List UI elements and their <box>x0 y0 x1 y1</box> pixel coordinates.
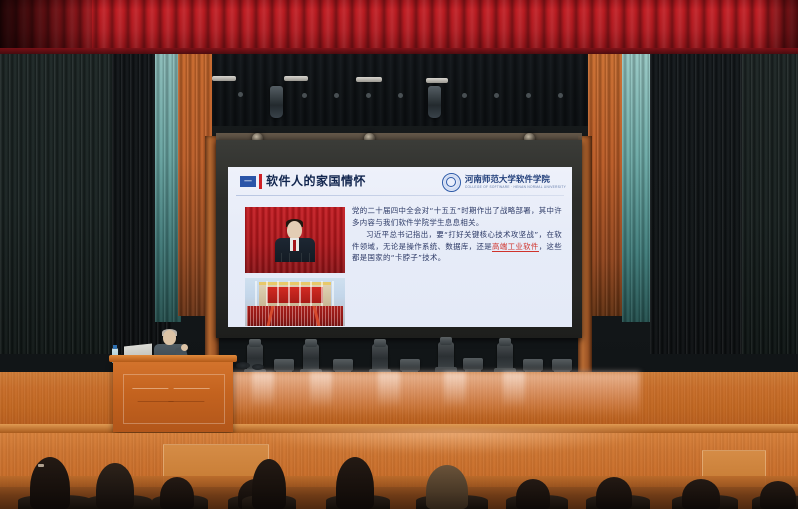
red-valance-curtain <box>0 0 798 54</box>
audience-head <box>596 477 632 509</box>
right-orange-drape <box>588 54 624 316</box>
par-can-light <box>400 359 420 371</box>
audience-head <box>160 477 194 509</box>
ceiling-light-dot <box>558 93 563 98</box>
ceiling-light-dot <box>526 93 531 98</box>
logo-name-cn: 河南师范大学软件学院 <box>465 175 566 185</box>
light-strip-bar <box>284 76 308 81</box>
slide-photo-leader-speech <box>245 207 345 273</box>
ceiling-light-dot <box>462 93 467 98</box>
slide-photo-great-hall <box>245 278 345 326</box>
ceiling-light-dot <box>302 93 307 98</box>
ceiling-light-dot <box>366 93 371 98</box>
slide-paragraph-2: 习近平总书记指出，要“打好关键核心技术攻坚战”，在软件领域，无论是操作系统、数据… <box>352 229 562 264</box>
audience-head <box>426 465 468 509</box>
par-can-light <box>274 359 294 371</box>
moving-head-light <box>497 343 513 369</box>
moving-head-light <box>438 342 454 368</box>
wooden-podium <box>113 360 233 432</box>
slide-body-text: 党的二十届四中全会对“十五五”时期作出了战略部署，其中许多内容与我们软件学院学生… <box>352 205 562 264</box>
right-black-drape <box>650 54 746 354</box>
hair-clip <box>38 464 44 467</box>
title-red-bar <box>259 174 262 189</box>
light-strip-bar <box>356 77 382 82</box>
ceiling-light-dot <box>238 92 243 97</box>
slide-title: 软件人的家国情怀 <box>266 174 366 189</box>
university-seal-icon <box>442 173 461 192</box>
left-black-drape <box>0 54 118 354</box>
valance-right-shadow <box>758 0 798 54</box>
par-can-light <box>463 358 483 370</box>
slide-highlight-term: 高端工业软件 <box>492 242 539 252</box>
slide-paragraph-1: 党的二十届四中全会对“十五五”时期作出了战略部署，其中许多内容与我们软件学院学生… <box>352 206 562 227</box>
valance-left-shadow <box>0 0 92 54</box>
moving-head-light <box>372 344 388 370</box>
hanging-stage-light <box>428 86 441 118</box>
light-strip-bar <box>212 76 236 81</box>
ceiling-light-dot <box>398 93 403 98</box>
right-teal-drape <box>622 54 652 322</box>
stage-floor-object <box>252 364 264 370</box>
par-can-light <box>523 359 543 371</box>
light-strip-bar <box>426 78 448 83</box>
auditorium-photo: 一 软件人的家国情怀 河南师范大学软件学院 COLLEGE OF SOFTWAR… <box>0 0 798 509</box>
logo-name-en: COLLEGE OF SOFTWARE · HENAN NORMAL UNIVE… <box>465 185 566 189</box>
par-can-light <box>552 359 572 371</box>
right-outer-black-drape <box>742 54 798 354</box>
stage-floor-object <box>236 362 250 369</box>
audience-head <box>760 481 796 509</box>
university-logo: 河南师范大学软件学院 COLLEGE OF SOFTWARE · HENAN N… <box>442 172 566 192</box>
audience-head <box>682 479 720 509</box>
ceiling-light-dot <box>334 93 339 98</box>
slide-header: 一 软件人的家国情怀 河南师范大学软件学院 COLLEGE OF SOFTWAR… <box>228 167 572 197</box>
hanging-stage-light <box>270 86 283 118</box>
audience-head <box>516 479 550 509</box>
moving-head-light <box>303 344 319 370</box>
audience-head <box>96 463 134 509</box>
section-number-badge: 一 <box>240 176 256 187</box>
header-divider <box>236 195 564 196</box>
projected-slide: 一 软件人的家国情怀 河南师范大学软件学院 COLLEGE OF SOFTWAR… <box>228 167 572 327</box>
ceiling-light-dot <box>494 93 499 98</box>
curtain-folds <box>0 0 798 54</box>
par-can-light <box>333 359 353 371</box>
